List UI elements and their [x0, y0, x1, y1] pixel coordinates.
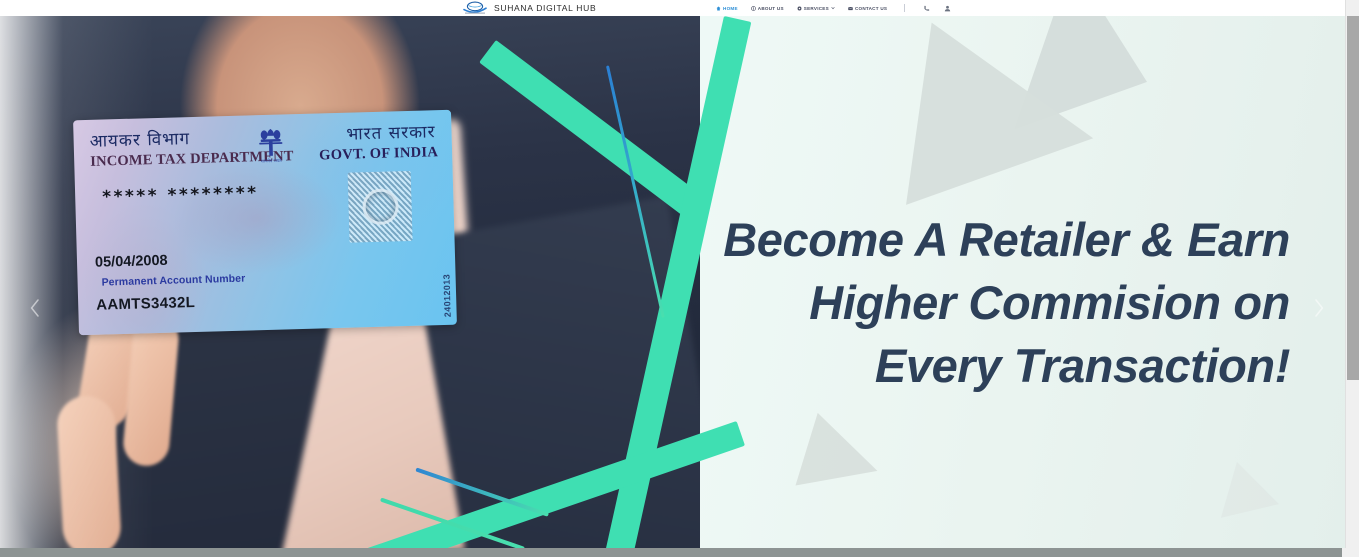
scrollbar-corner [1345, 548, 1359, 557]
nav-divider [904, 4, 905, 12]
decorative-triangle-3 [796, 413, 889, 507]
nav-item-contact-us-label: CONTACT US [855, 6, 887, 11]
hero-headline-line-3: Every Transaction! [618, 334, 1290, 397]
hero-banner: आयकर विभाग INCOME TAX DEPARTMENT सत्यमेव… [0, 16, 1345, 548]
decorative-triangle-4 [1221, 462, 1287, 532]
horizontal-scrollbar[interactable] [0, 548, 1359, 557]
primary-navigation: HOME ABOUT US SERVICES [716, 0, 951, 16]
hero-headline: Become A Retailer & Earn Higher Commisio… [618, 208, 1290, 397]
pan-hologram [348, 171, 413, 243]
hero-headline-line-2: Higher Commision on [618, 271, 1290, 334]
site-header: SUHANA DIGITAL HUB HOME ABOUT US [0, 0, 1345, 16]
pan-date: 05/04/2008 [95, 253, 168, 271]
nav-item-services-label: SERVICES [804, 6, 829, 11]
nav-item-about-us[interactable]: ABOUT US [751, 6, 784, 11]
pan-vertical-code: 24012013 [442, 274, 453, 318]
pan-number: AAMTS3432L [96, 294, 195, 314]
decorative-triangle-1 [1014, 16, 1175, 165]
browser-viewport: SUHANA DIGITAL HUB HOME ABOUT US [0, 0, 1359, 557]
carousel-prev-button[interactable] [22, 297, 48, 323]
pan-govt-english: GOVT. OF INDIA [319, 144, 438, 164]
carousel-next-button[interactable] [1306, 297, 1332, 323]
home-icon [716, 6, 721, 11]
envelope-icon [848, 6, 853, 11]
india-emblem-icon: सत्यमेव जयते [255, 124, 286, 169]
nav-item-services[interactable]: SERVICES [797, 6, 835, 11]
vertical-scrollbar-thumb[interactable] [1347, 16, 1359, 380]
pan-govt-hindi: भारत सरकार [346, 119, 436, 144]
chevron-left-icon [28, 298, 42, 323]
pan-hologram-ring [362, 188, 399, 225]
brand-name: SUHANA DIGITAL HUB [494, 3, 596, 13]
nav-item-about-us-label: ABOUT US [758, 6, 784, 11]
gear-icon [797, 6, 802, 11]
svg-text:सत्यमेव जयते: सत्यमेव जयते [261, 158, 282, 164]
nav-item-contact-us[interactable]: CONTACT US [848, 6, 887, 11]
horizontal-scrollbar-thumb[interactable] [0, 548, 1342, 557]
pan-dept-hindi: आयकर विभाग [89, 126, 190, 152]
hero-headline-line-1: Become A Retailer & Earn [618, 208, 1290, 271]
chevron-down-icon [831, 6, 835, 10]
info-icon [751, 6, 756, 11]
phone-icon[interactable] [922, 4, 930, 12]
brand-logo-link[interactable]: SUHANA DIGITAL HUB [462, 0, 596, 16]
user-icon[interactable] [943, 4, 951, 12]
vertical-scrollbar[interactable] [1345, 0, 1359, 548]
decorative-triangle-2 [906, 23, 1106, 230]
chevron-right-icon [1312, 298, 1326, 323]
page-content: SUHANA DIGITAL HUB HOME ABOUT US [0, 0, 1345, 548]
nav-item-home-label: HOME [723, 6, 738, 11]
globe-swoosh-logo-icon [462, 1, 488, 15]
pan-card: आयकर विभाग INCOME TAX DEPARTMENT सत्यमेव… [73, 110, 457, 335]
nav-item-home[interactable]: HOME [716, 6, 738, 11]
